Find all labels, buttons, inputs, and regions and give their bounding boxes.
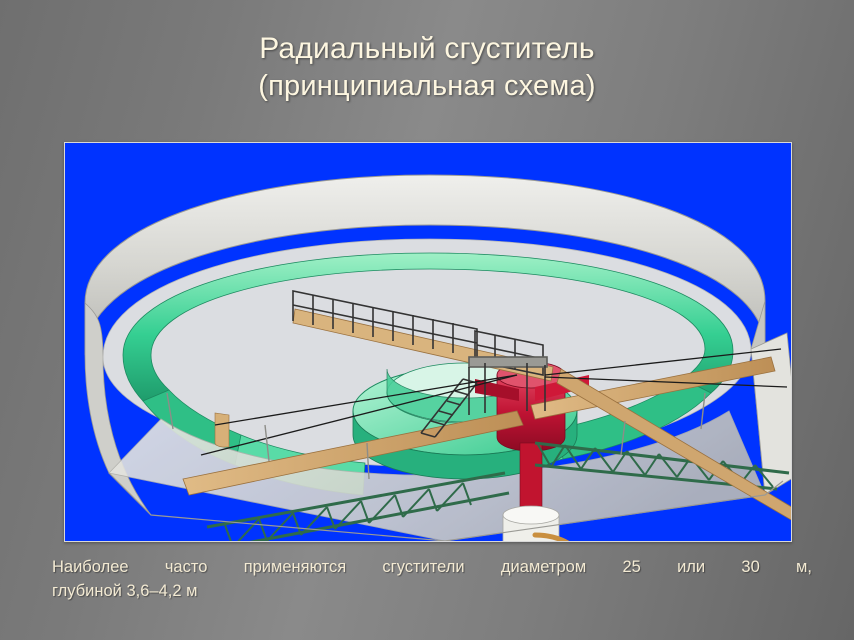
caption-line-2: глубиной 3,6–4,2 м bbox=[52, 580, 812, 604]
diagram-figure bbox=[64, 142, 792, 542]
page-title: Радиальный сгуститель (принципиальная сх… bbox=[0, 30, 854, 106]
radial-thickener-illustration bbox=[65, 143, 791, 541]
slide-caption: Наиболее часто применяются сгустители ди… bbox=[52, 556, 812, 604]
slide: Радиальный сгуститель (принципиальная сх… bbox=[0, 0, 854, 640]
caption-line-1: Наиболее часто применяются сгустители ди… bbox=[52, 556, 812, 580]
title-line-1: Радиальный сгуститель bbox=[0, 30, 854, 68]
title-line-2: (принципиальная схема) bbox=[0, 68, 854, 105]
